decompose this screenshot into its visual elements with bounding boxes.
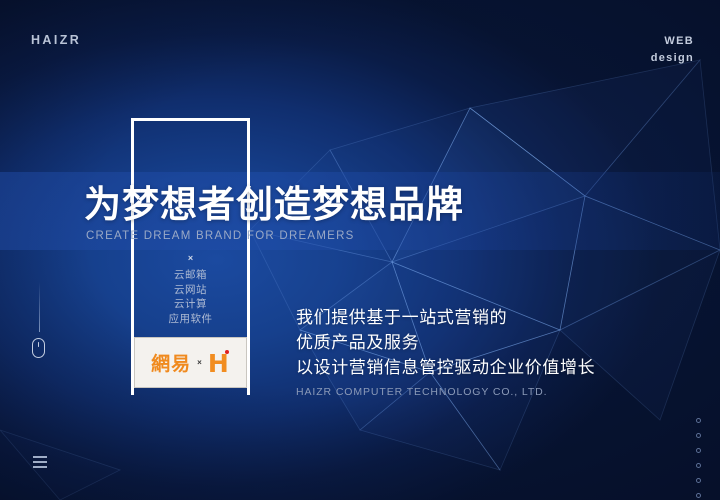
page-title: 为梦想者创造梦想品牌 — [84, 183, 464, 226]
brand-logo-text: HAIZR — [31, 33, 81, 47]
copy-line-2: 优质产品及服务 — [296, 331, 595, 356]
copy-line-1: 我们提供基于一站式营销的 — [296, 306, 595, 331]
page-subtitle: CREATE DREAM BRAND FOR DREAMERS — [86, 230, 355, 242]
list-item[interactable]: 云计算 — [131, 297, 250, 312]
hero-slide: HAIZR WEB design × 云邮箱 云网站 云计算 应用软件 網易 ×… — [0, 0, 720, 500]
card-divider-symbol: × — [131, 252, 250, 264]
logo-separator-icon: × — [197, 358, 202, 367]
web-design-label: WEB design — [651, 33, 694, 67]
background-vignette — [0, 0, 720, 500]
slide-pagination[interactable] — [696, 418, 701, 498]
haizr-mark-icon: H — [208, 350, 230, 376]
web-design-line1: WEB — [651, 33, 694, 50]
company-name-en: HAIZR COMPUTER TECHNOLOGY CO., LTD. — [296, 386, 595, 399]
list-item[interactable]: 云网站 — [131, 283, 250, 298]
scroll-rail-line — [39, 282, 40, 332]
service-list: 云邮箱 云网站 云计算 应用软件 — [131, 268, 250, 326]
mouse-wheel-icon — [38, 342, 40, 347]
pager-dot[interactable] — [696, 433, 701, 438]
pager-dot[interactable] — [696, 493, 701, 498]
feature-card-content: × 云邮箱 云网站 云计算 应用软件 — [131, 252, 250, 326]
pager-dot[interactable] — [696, 478, 701, 483]
haizr-mark-glyph: H — [208, 351, 229, 376]
pager-dot[interactable] — [696, 463, 701, 468]
pager-dot[interactable] — [696, 448, 701, 453]
hamburger-bar — [33, 466, 47, 468]
web-design-line2: design — [651, 50, 694, 67]
hamburger-menu-icon[interactable] — [33, 456, 47, 468]
haizr-mark-dot-icon — [225, 350, 229, 354]
hamburger-bar — [33, 461, 47, 463]
list-item[interactable]: 云邮箱 — [131, 268, 250, 283]
partner-logo-box: 網易 × H — [134, 337, 247, 388]
partner-logo-text: 網易 — [151, 349, 191, 376]
pager-dot[interactable] — [696, 418, 701, 423]
hero-copy: 我们提供基于一站式营销的 优质产品及服务 以设计营销信息管控驱动企业价值增长 H… — [296, 306, 595, 399]
copy-line-3: 以设计营销信息管控驱动企业价值增长 — [296, 356, 595, 381]
list-item[interactable]: 应用软件 — [131, 312, 250, 327]
mouse-scroll-icon[interactable] — [32, 338, 45, 358]
hamburger-bar — [33, 456, 47, 458]
